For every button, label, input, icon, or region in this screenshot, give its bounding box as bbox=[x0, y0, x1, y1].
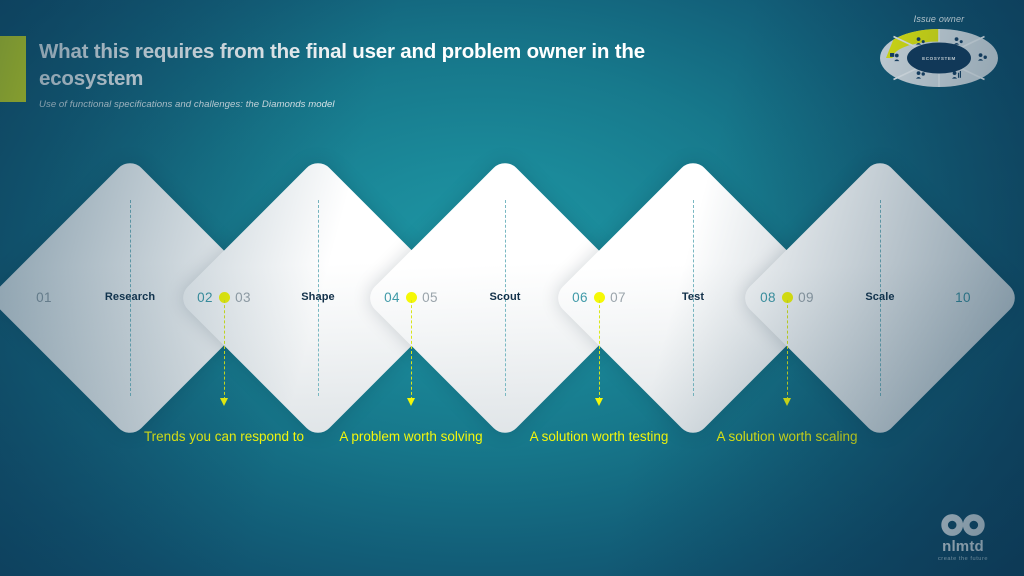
junction-arrowhead-4 bbox=[783, 398, 791, 406]
infinity-icon bbox=[940, 514, 986, 536]
junction-caption-2: A problem worth solving bbox=[316, 427, 506, 448]
junction-arrow-3 bbox=[599, 300, 600, 400]
logo-tagline: create the future bbox=[924, 556, 1002, 562]
step-number-06: 06 bbox=[563, 290, 597, 305]
junction-arrowhead-2 bbox=[407, 398, 415, 406]
phase-label-research: Research bbox=[70, 291, 190, 303]
step-number-02: 02 bbox=[188, 290, 222, 305]
step-number-05: 05 bbox=[413, 290, 447, 305]
junction-arrowhead-1 bbox=[220, 398, 228, 406]
junction-caption-3: A solution worth testing bbox=[504, 427, 694, 448]
logo-wordmark: nlmtd bbox=[924, 538, 1002, 555]
phase-label-test: Test bbox=[633, 291, 753, 303]
phase-label-scale: Scale bbox=[820, 291, 940, 303]
phase-label-shape: Shape bbox=[258, 291, 378, 303]
step-number-08: 08 bbox=[751, 290, 785, 305]
slide-canvas: What this requires from the final user a… bbox=[0, 0, 1024, 576]
junction-arrowhead-3 bbox=[595, 398, 603, 406]
junction-arrow-2 bbox=[411, 300, 412, 400]
company-logo: nlmtd create the future bbox=[924, 514, 1002, 562]
step-number-04: 04 bbox=[375, 290, 409, 305]
step-number-07: 07 bbox=[601, 290, 635, 305]
junction-arrow-4 bbox=[787, 300, 788, 400]
step-number-01: 01 bbox=[27, 290, 61, 305]
phase-label-scout: Scout bbox=[445, 291, 565, 303]
diamonds-diagram: ResearchShapeScoutTestScale01100203Trend… bbox=[0, 0, 1024, 576]
step-number-03: 03 bbox=[226, 290, 260, 305]
step-number-09: 09 bbox=[789, 290, 823, 305]
junction-caption-1: Trends you can respond to bbox=[129, 427, 319, 448]
step-number-10: 10 bbox=[946, 290, 980, 305]
junction-caption-4: A solution worth scaling bbox=[692, 427, 882, 448]
junction-arrow-1 bbox=[224, 300, 225, 400]
